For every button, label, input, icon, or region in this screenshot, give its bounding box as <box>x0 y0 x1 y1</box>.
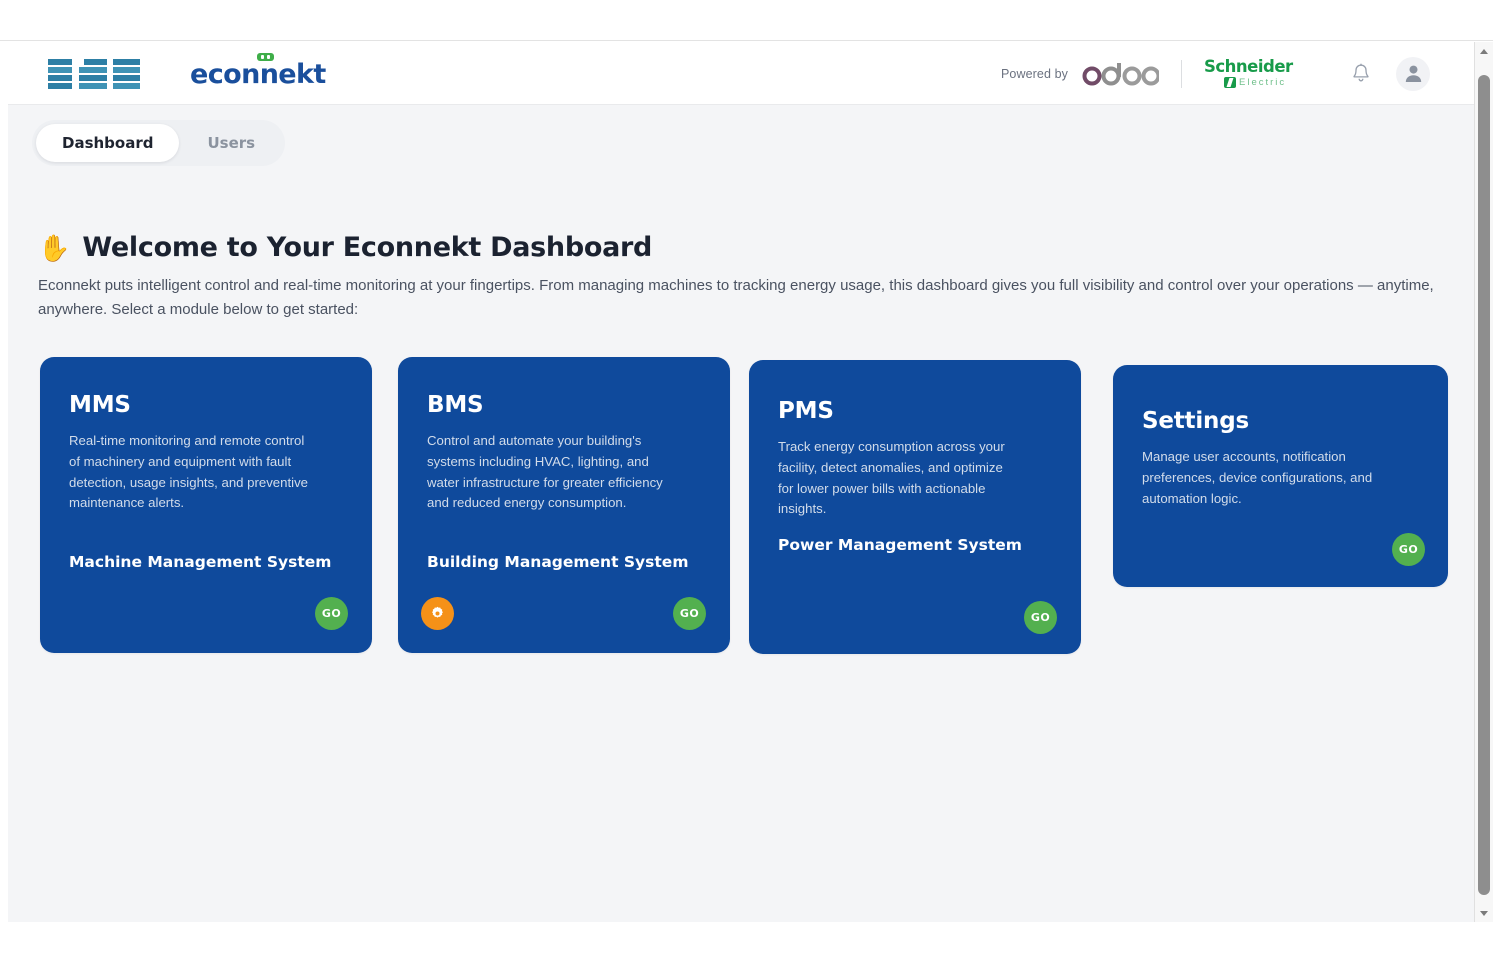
card-subtitle: Power Management System <box>778 536 1022 554</box>
schneider-name-text: Schneider <box>1204 59 1296 76</box>
user-avatar-icon <box>1404 64 1423 83</box>
user-avatar-button[interactable] <box>1396 57 1430 91</box>
card-subtitle: Building Management System <box>427 553 688 571</box>
header-right-group: Powered by Schneider Electric <box>1001 42 1430 105</box>
bell-icon <box>1351 63 1371 84</box>
gear-icon <box>430 606 445 621</box>
hse-logo[interactable] <box>48 58 140 89</box>
schneider-mark-icon <box>1224 77 1236 88</box>
scroll-down-button[interactable] <box>1475 904 1493 922</box>
page-title: ✋ Welcome to Your Econnekt Dashboard <box>38 232 652 263</box>
schneider-sub-group: Electric <box>1224 77 1296 88</box>
go-button[interactable]: GO <box>673 597 706 630</box>
odoo-logo-icon <box>1081 62 1159 86</box>
scroll-up-button[interactable] <box>1475 42 1493 60</box>
hse-logo-icon <box>48 58 140 89</box>
browser-left-edge <box>0 41 8 922</box>
chevron-up-icon <box>1480 49 1488 54</box>
powered-by-label: Powered by <box>1001 67 1068 81</box>
card-title: MMS <box>69 392 131 418</box>
card-subtitle: Machine Management System <box>69 553 331 571</box>
module-card-settings[interactable]: Settings Manage user accounts, notificat… <box>1113 365 1448 587</box>
go-button[interactable]: GO <box>1024 601 1057 634</box>
tab-bar: Dashboard Users <box>32 120 285 166</box>
tab-users[interactable]: Users <box>181 124 281 162</box>
module-card-pms[interactable]: PMS Track energy consumption across your… <box>749 360 1081 654</box>
econnekt-logo[interactable]: econnekt <box>190 59 326 89</box>
browser-bottom-chrome <box>0 922 1493 969</box>
card-description: Real-time monitoring and remote control … <box>69 431 309 514</box>
header-divider <box>1181 60 1182 88</box>
chevron-down-icon <box>1480 911 1488 916</box>
card-description: Control and automate your building's sys… <box>427 431 663 514</box>
page-viewport: econnekt Powered by Schneider Ele <box>8 42 1474 922</box>
notifications-button[interactable] <box>1344 57 1378 91</box>
card-title: Settings <box>1142 408 1249 434</box>
odoo-logo[interactable] <box>1081 62 1159 86</box>
tab-dashboard[interactable]: Dashboard <box>36 124 179 162</box>
go-button[interactable]: GO <box>1392 533 1425 566</box>
card-description: Manage user accounts, notification prefe… <box>1142 447 1382 509</box>
app-header: econnekt Powered by Schneider Ele <box>8 42 1474 105</box>
econnekt-logo-text: econnekt <box>190 59 326 90</box>
browser-top-chrome <box>0 0 1493 41</box>
welcome-description: Econnekt puts intelligent control and re… <box>38 274 1438 322</box>
welcome-title-text: Welcome to Your Econnekt Dashboard <box>82 232 652 263</box>
go-button[interactable]: GO <box>315 597 348 630</box>
waving-hand-icon: ✋ <box>38 235 70 261</box>
vertical-scrollbar[interactable] <box>1474 42 1493 922</box>
module-card-bms[interactable]: BMS Control and automate your building's… <box>398 357 730 653</box>
module-card-mms[interactable]: MMS Real-time monitoring and remote cont… <box>40 357 372 653</box>
scrollbar-thumb[interactable] <box>1478 75 1490 895</box>
schneider-electric-text: Electric <box>1239 78 1286 88</box>
schneider-electric-logo[interactable]: Schneider Electric <box>1204 59 1296 88</box>
card-description: Track energy consumption across your fac… <box>778 437 1018 520</box>
econnekt-connector-icon <box>257 53 274 61</box>
settings-gear-button[interactable] <box>421 597 454 630</box>
card-title: PMS <box>778 398 834 424</box>
card-title: BMS <box>427 392 483 418</box>
